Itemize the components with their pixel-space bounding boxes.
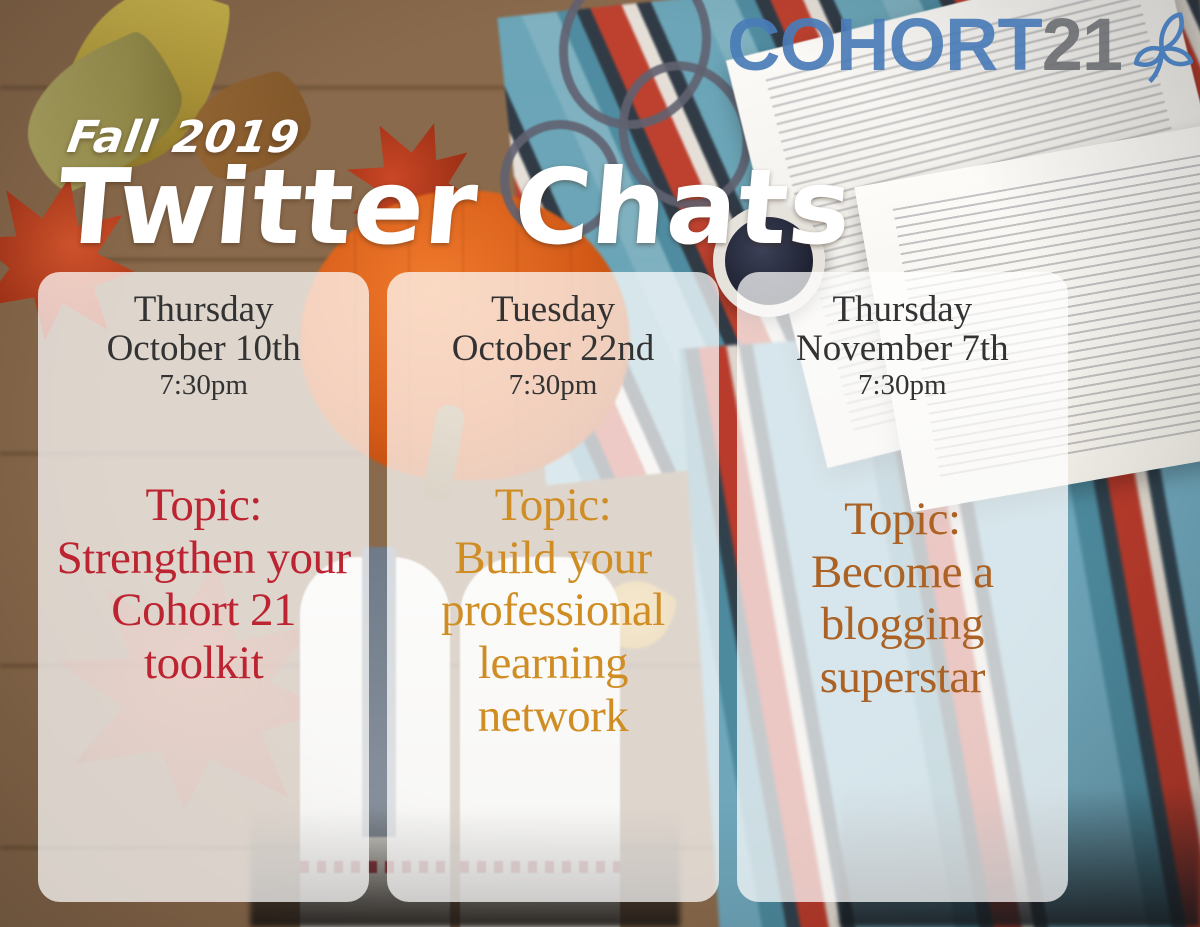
- poster-canvas: COHORT21 Fall 2019 Twitter Chats Thursda…: [0, 0, 1200, 927]
- cohort21-leaf-icon: [1124, 10, 1200, 86]
- card-date: November 7th: [796, 329, 1009, 368]
- chat-card-2[interactable]: Tuesday October 22nd 7:30pm Topic: Build…: [387, 272, 718, 902]
- title-headline: Twitter Chats: [54, 157, 857, 259]
- card-time: 7:30pm: [796, 370, 1009, 401]
- card-topic-text: Build your professional learning network: [441, 532, 665, 742]
- card-time: 7:30pm: [452, 370, 654, 401]
- card-topic-label: Topic:: [48, 479, 359, 532]
- card-date-block: Thursday November 7th 7:30pm: [796, 290, 1009, 401]
- chat-schedule-cards: Thursday October 10th 7:30pm Topic: Stre…: [38, 272, 1068, 902]
- card-date-block: Thursday October 10th 7:30pm: [107, 290, 301, 401]
- chat-card-3[interactable]: Thursday November 7th 7:30pm Topic: Beco…: [737, 272, 1068, 902]
- card-topic-block: Topic: Build your professional learning …: [397, 479, 708, 742]
- logo-wordmark-21: 21: [1042, 8, 1122, 82]
- logo-wordmark-cohort: COHORT: [727, 8, 1042, 82]
- cohort21-logo: COHORT21: [727, 8, 1122, 82]
- card-topic-label: Topic:: [397, 479, 708, 532]
- card-weekday: Tuesday: [452, 290, 654, 329]
- card-date: October 22nd: [452, 329, 654, 368]
- card-topic-label: Topic:: [747, 493, 1058, 546]
- card-date-block: Tuesday October 22nd 7:30pm: [452, 290, 654, 401]
- card-topic-block: Topic: Become a blogging superstar: [747, 493, 1058, 704]
- card-topic-text: Become a blogging superstar: [811, 546, 994, 703]
- card-weekday: Thursday: [796, 290, 1009, 329]
- poster-title: Fall 2019 Twitter Chats: [58, 112, 852, 259]
- card-date: October 10th: [107, 329, 301, 368]
- card-weekday: Thursday: [107, 290, 301, 329]
- card-topic-text: Strengthen your Cohort 21 toolkit: [57, 532, 351, 689]
- chat-card-1[interactable]: Thursday October 10th 7:30pm Topic: Stre…: [38, 272, 369, 902]
- card-time: 7:30pm: [107, 370, 301, 401]
- card-topic-block: Topic: Strengthen your Cohort 21 toolkit: [48, 479, 359, 690]
